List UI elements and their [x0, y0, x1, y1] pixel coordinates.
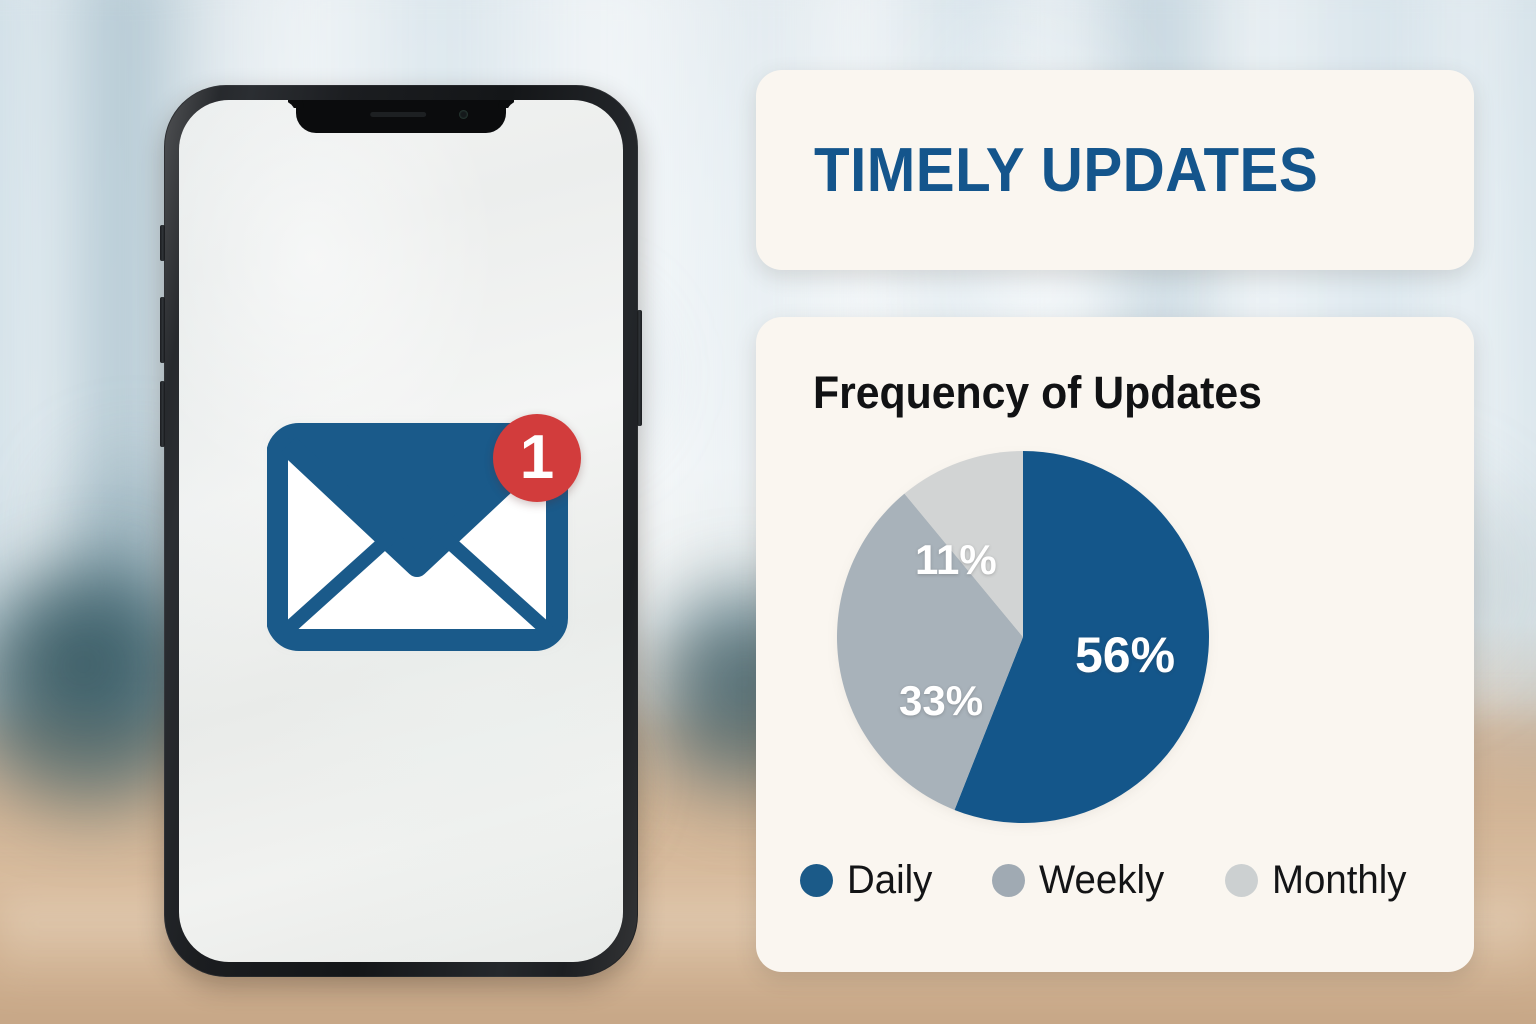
chart-title: Frequency of Updates	[813, 367, 1262, 419]
title-card: TIMELY UPDATES	[756, 70, 1474, 270]
volume-up-button[interactable]	[160, 297, 165, 363]
legend-item-monthly[interactable]: Monthly	[1225, 858, 1412, 903]
page-title: TIMELY UPDATES	[814, 135, 1318, 206]
legend-swatch-weekly	[992, 864, 1025, 897]
power-button[interactable]	[637, 310, 642, 426]
pie-slice-label-daily: 56%	[1075, 626, 1175, 684]
notification-badge: 1	[493, 414, 581, 502]
front-camera-icon	[459, 110, 468, 119]
legend-swatch-monthly	[1225, 864, 1258, 897]
legend-swatch-daily	[800, 864, 833, 897]
legend-item-weekly[interactable]: Weekly	[992, 858, 1169, 903]
screenshot-stage: 1 TIMELY UPDATES Frequency of Updates 56…	[0, 0, 1536, 1024]
smartphone: 1	[164, 85, 638, 977]
pie-slice-label-monthly: 11%	[915, 536, 997, 584]
chart-card: Frequency of Updates 56% 33% 11% DailyWe…	[756, 317, 1474, 972]
legend-item-daily[interactable]: Daily	[800, 858, 936, 903]
legend-label-daily: Daily	[847, 858, 932, 903]
legend-label-weekly: Weekly	[1039, 858, 1164, 903]
legend-label-monthly: Monthly	[1272, 858, 1406, 903]
pie-slice-label-weekly: 33%	[899, 677, 983, 725]
pie-chart[interactable]: 56% 33% 11%	[837, 451, 1209, 823]
notification-badge-count: 1	[520, 427, 554, 489]
earpiece-speaker-icon	[370, 112, 426, 117]
volume-down-button[interactable]	[160, 381, 165, 447]
mute-switch-button[interactable]	[160, 225, 165, 261]
phone-screen[interactable]: 1	[179, 100, 623, 962]
chart-legend: DailyWeeklyMonthly	[800, 858, 1440, 903]
phone-notch	[296, 100, 506, 133]
envelope-icon[interactable]: 1	[267, 420, 577, 670]
